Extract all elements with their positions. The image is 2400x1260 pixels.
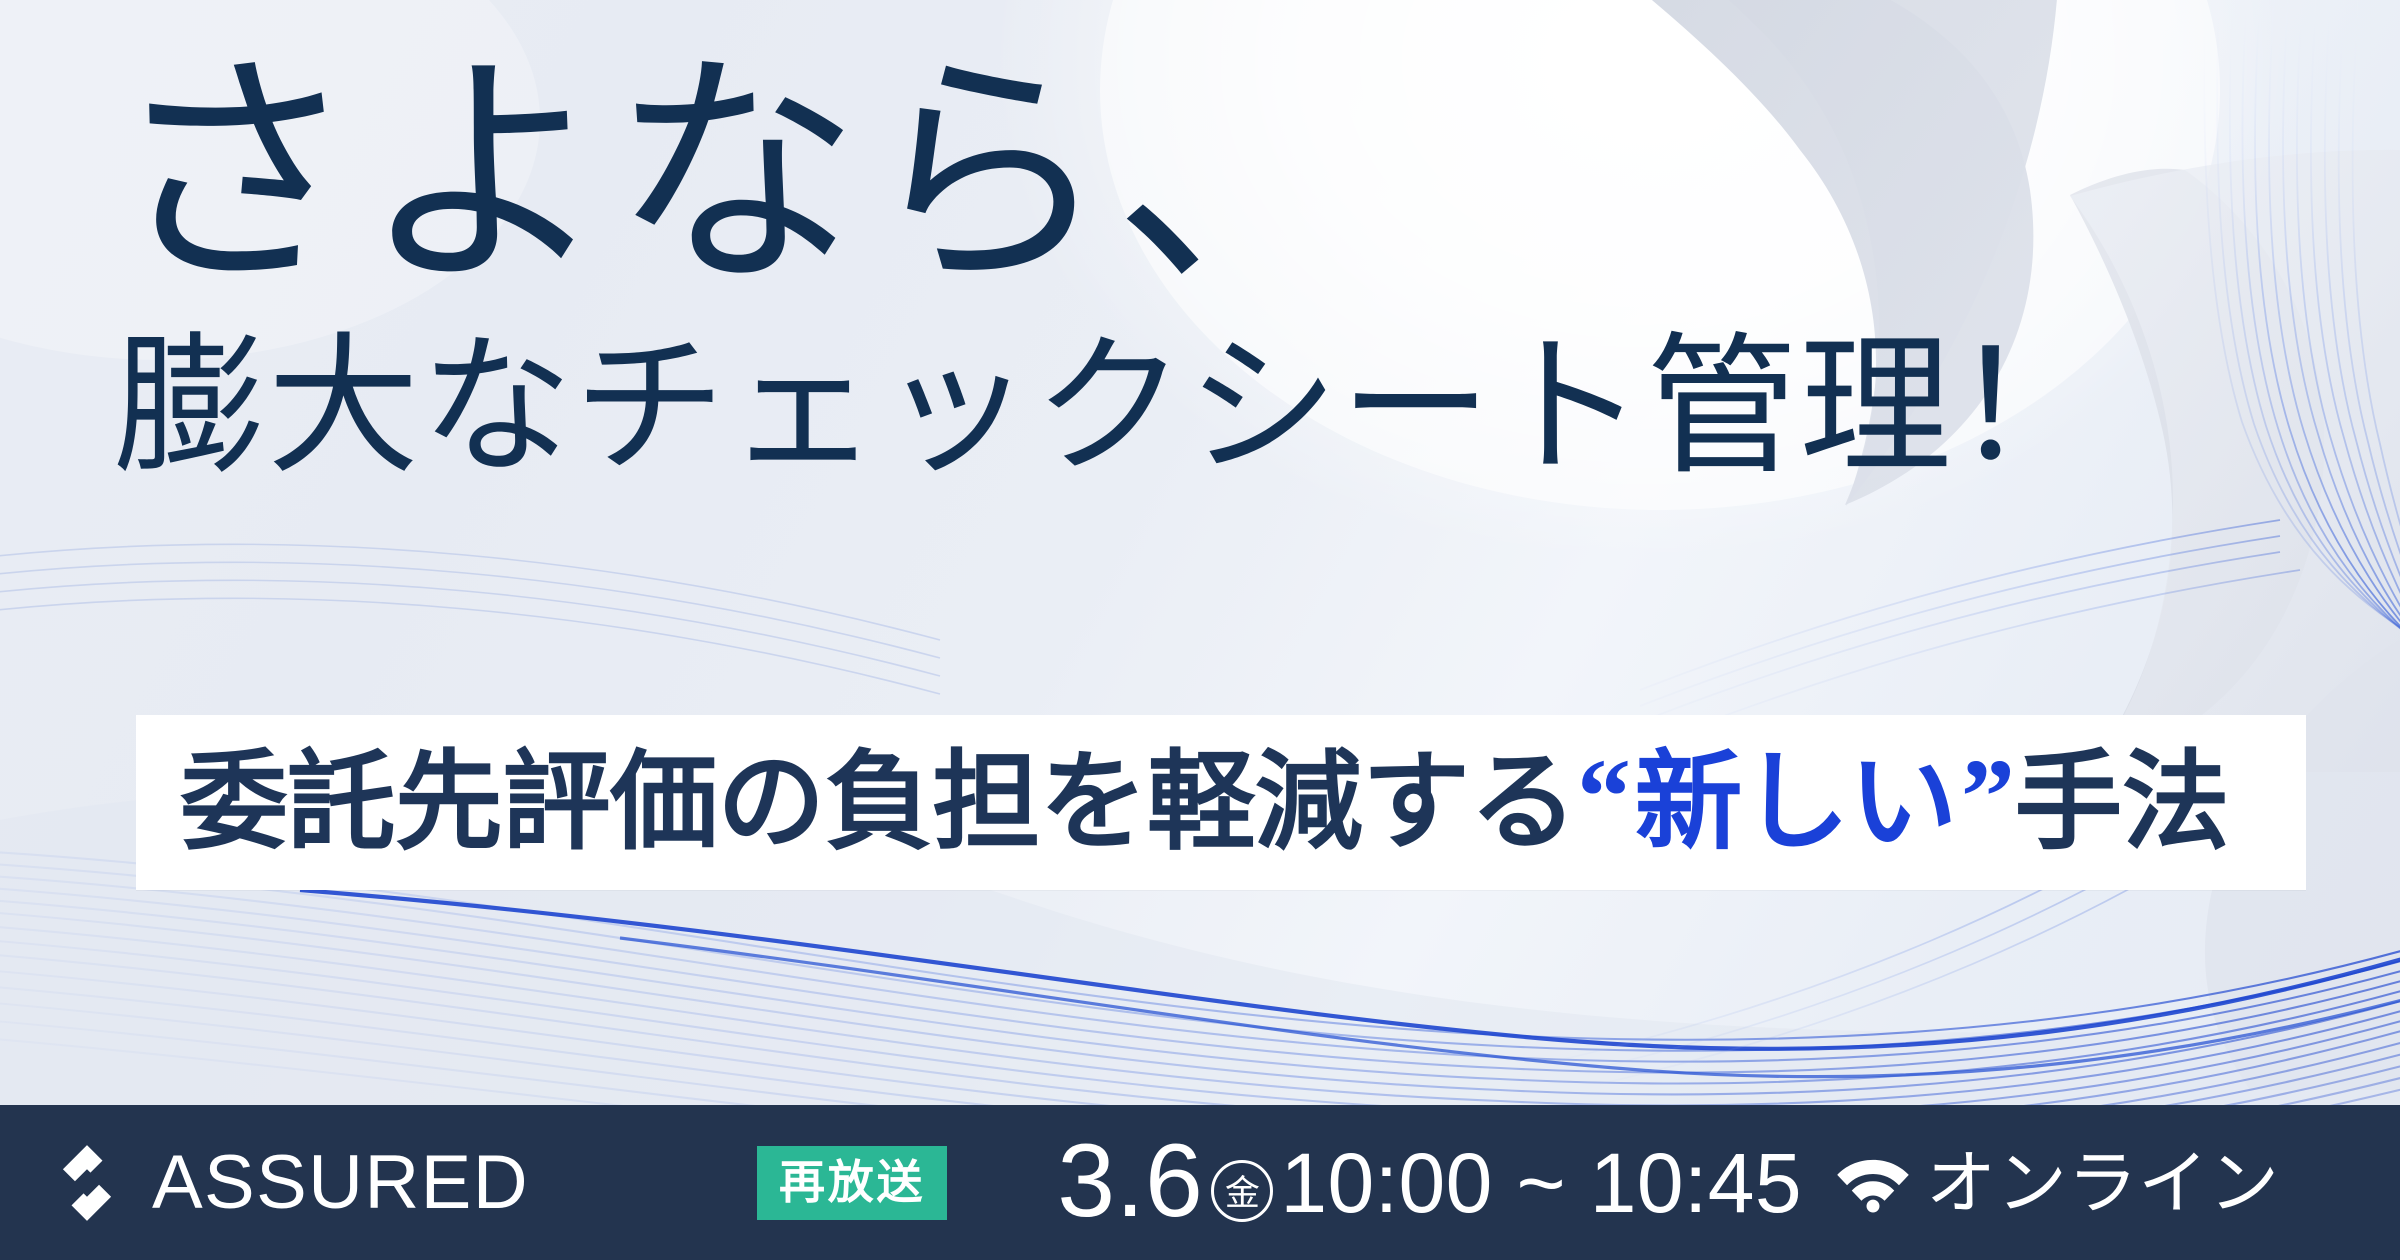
headline-line-1: さよなら、 [110,46,2106,309]
footer-bar: ASSURED 再放送 3.6 金 10:00 ~ 10:45 オンライン [0,1105,2400,1260]
day-of-week-badge: 金 [1211,1160,1273,1222]
brand-name: ASSURED [152,1145,529,1221]
subtitle-banner: 委託先評価の負担を軽減する“新しい”手法 [136,715,2306,890]
schedule: 3.6 金 10:00 ~ 10:45 [1057,1131,1802,1235]
delivery-format: オンライン [1836,1148,2280,1218]
brand-logo: ASSURED [44,1140,529,1226]
quote-open-icon: “ [1577,744,1630,852]
headline-line-2: 膨大なチェックシート管理！ [114,323,2106,493]
delivery-label: オンライン [1926,1148,2280,1218]
event-time: 10:00 ~ 10:45 [1280,1141,1802,1225]
subtitle-part-2: 手法 [2014,748,2229,856]
subtitle-highlight: 新しい [1630,748,1960,856]
assured-diamond-check-icon [44,1140,130,1226]
headline: さよなら、 膨大なチェックシート管理！ [110,46,2106,493]
subtitle-text: 委託先評価の負担を軽減する“新しい”手法 [136,748,2229,858]
quote-close-icon: ” [1961,744,2014,852]
status-badge: 再放送 [757,1146,947,1220]
subtitle-part-1: 委託先評価の負担を軽減する [180,748,1577,856]
webinar-banner: さよなら、 膨大なチェックシート管理！ 委託先評価の負担を軽減する“新しい”手法… [0,0,2400,1260]
wifi-icon [1836,1153,1910,1213]
event-date: 3.6 [1057,1129,1203,1233]
